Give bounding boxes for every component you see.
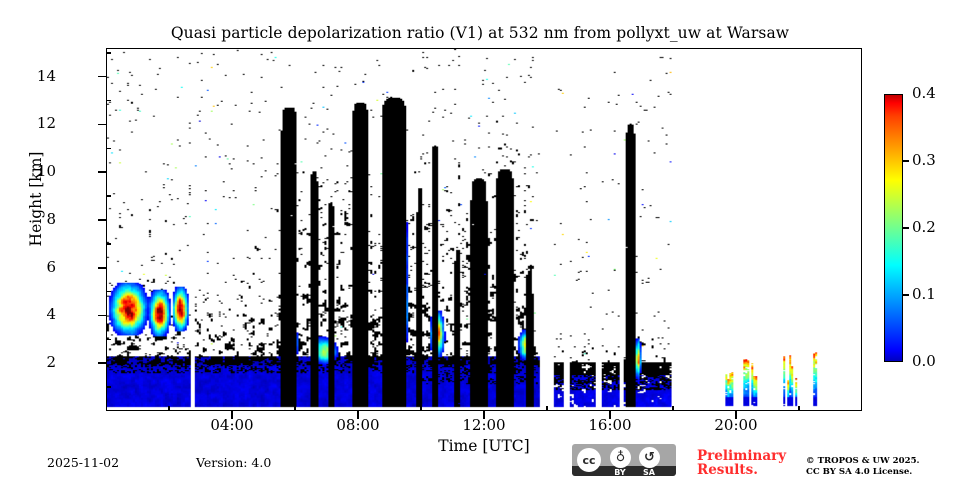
y-tick-minor [106,195,111,197]
y-tick-major [98,362,106,364]
x-tick-minor [798,406,800,411]
x-tick-label: 04:00 [197,416,267,434]
plot-area [106,48,862,411]
y-tick-major [98,219,106,221]
y-tick-major [98,315,106,317]
y-tick-major [98,76,106,78]
colorbar [884,94,903,362]
colorbar-tick [903,160,909,161]
y-tick-minor [106,148,111,150]
preliminary-results-note: Preliminary Results. [697,449,792,477]
x-tick-label: 12:00 [449,416,519,434]
cc-by-icon: ♁ [610,447,631,468]
version-stamp: Version: 4.0 [196,455,271,470]
y-tick-label: 8 [0,210,56,228]
date-stamp: 2025-11-02 [47,455,119,470]
y-tick-minor [106,339,111,341]
x-tick-label: 20:00 [701,416,771,434]
y-tick-minor [106,243,111,245]
heatmap-canvas [107,49,861,410]
colorbar-tick-label: 0.2 [912,218,936,236]
colorbar-tick [903,227,909,228]
y-tick-minor [106,291,111,293]
y-tick-label: 14 [0,67,56,85]
y-tick-major [98,267,106,269]
y-tick-label: 2 [0,353,56,371]
cc-icon: cc [577,448,601,472]
x-tick-label: 08:00 [323,416,393,434]
y-tick-label: 10 [0,162,56,180]
x-tick-label: 16:00 [575,416,645,434]
y-tick-label: 12 [0,114,56,132]
cc-sa-label: SA [637,468,661,476]
x-tick-minor [294,406,296,411]
x-tick-minor [672,406,674,411]
y-tick-major [98,124,106,126]
copyright-line-1: © TROPOS & UW 2025. [806,456,956,467]
y-tick-major [98,171,106,173]
cc-license-badge[interactable]: cc ♁ ↺ BY SA [572,444,676,476]
y-tick-minor [106,386,111,388]
x-tick-minor [546,406,548,411]
cc-sa-icon: ↺ [639,447,660,468]
colorbar-tick-label: 0.0 [912,352,936,370]
colorbar-tick-label: 0.1 [912,285,936,303]
cc-by-label: BY [608,468,632,476]
colorbar-tick-label: 0.4 [912,84,936,102]
y-tick-label: 6 [0,258,56,276]
x-tick-minor [420,406,422,411]
colorbar-tick-label: 0.3 [912,151,936,169]
y-tick-minor [106,100,111,102]
x-tick-minor [168,406,170,411]
y-tick-minor [106,52,111,54]
copyright-note: © TROPOS & UW 2025. CC BY SA 4.0 License… [806,456,956,477]
copyright-line-2: CC BY SA 4.0 License. [806,467,956,478]
y-tick-label: 4 [0,305,56,323]
colorbar-tick [903,294,909,295]
chart-title: Quasi particle depolarization ratio (V1)… [0,24,960,42]
